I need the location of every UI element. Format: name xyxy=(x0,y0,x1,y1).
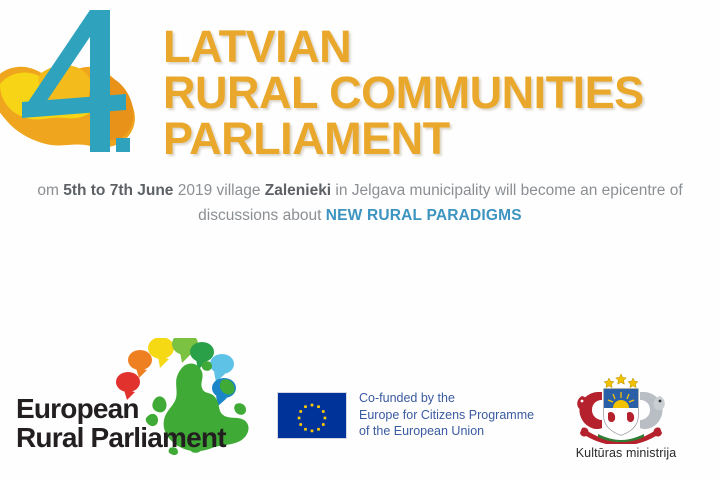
logo-european-rural-parliament: European Rural Parliament xyxy=(16,338,256,460)
sponsor-logo-row: European Rural Parliament xyxy=(0,330,720,480)
headline-line-3: PARLIAMENT xyxy=(163,116,720,162)
subtitle-line-1: om 5th to 7th June 2019 village Zaleniek… xyxy=(0,178,720,203)
headline-line-1: LATVIAN xyxy=(163,24,720,70)
subtitle-prefix: om xyxy=(37,182,63,199)
conference-number-logo xyxy=(0,2,158,174)
poster-headline: LATVIAN RURAL COMMUNITIES PARLIAMENT xyxy=(163,24,720,162)
subtitle-line2-prefix: discussions about xyxy=(198,207,326,224)
ministry-caption: Kultūras ministrija xyxy=(556,446,696,460)
erp-wordmark: European Rural Parliament xyxy=(16,394,226,452)
erp-line-2: Rural Parliament xyxy=(16,423,226,452)
subtitle-mid: 2019 village xyxy=(173,182,264,199)
subtitle-theme: NEW RURAL PARADIGMS xyxy=(326,207,522,224)
event-poster: LATVIAN RURAL COMMUNITIES PARLIAMENT om … xyxy=(0,0,720,480)
logo-eu-cofunding: Co-funded by the Europe for Citizens Pro… xyxy=(277,390,532,446)
eu-flag-icon xyxy=(277,392,347,439)
numeral-period xyxy=(116,138,130,152)
subtitle-line-2: discussions about NEW RURAL PARADIGMS xyxy=(0,203,720,228)
lion-supporter xyxy=(577,392,602,429)
subtitle-suffix: in Jelgava municipality will become an e… xyxy=(331,182,683,199)
eu-cofunding-text: Co-funded by the Europe for Citizens Pro… xyxy=(359,390,534,440)
eu-text-line-3: of the European Union xyxy=(359,423,534,440)
eu-text-line-1: Co-funded by the xyxy=(359,390,534,407)
subtitle-dates: 5th to 7th June xyxy=(63,182,173,199)
subtitle-village: Zalenieki xyxy=(265,182,331,199)
headline-line-2: RURAL COMMUNITIES xyxy=(163,70,720,116)
latvian-coat-of-arms-icon xyxy=(568,372,674,444)
eu-text-line-2: Europe for Citizens Programme xyxy=(359,407,534,424)
logo-ministry-of-culture: Kultūras ministrija xyxy=(556,372,696,480)
erp-line-1: European xyxy=(16,394,226,423)
griffin-supporter xyxy=(640,392,665,429)
poster-subtitle: om 5th to 7th June 2019 village Zaleniek… xyxy=(0,178,720,228)
